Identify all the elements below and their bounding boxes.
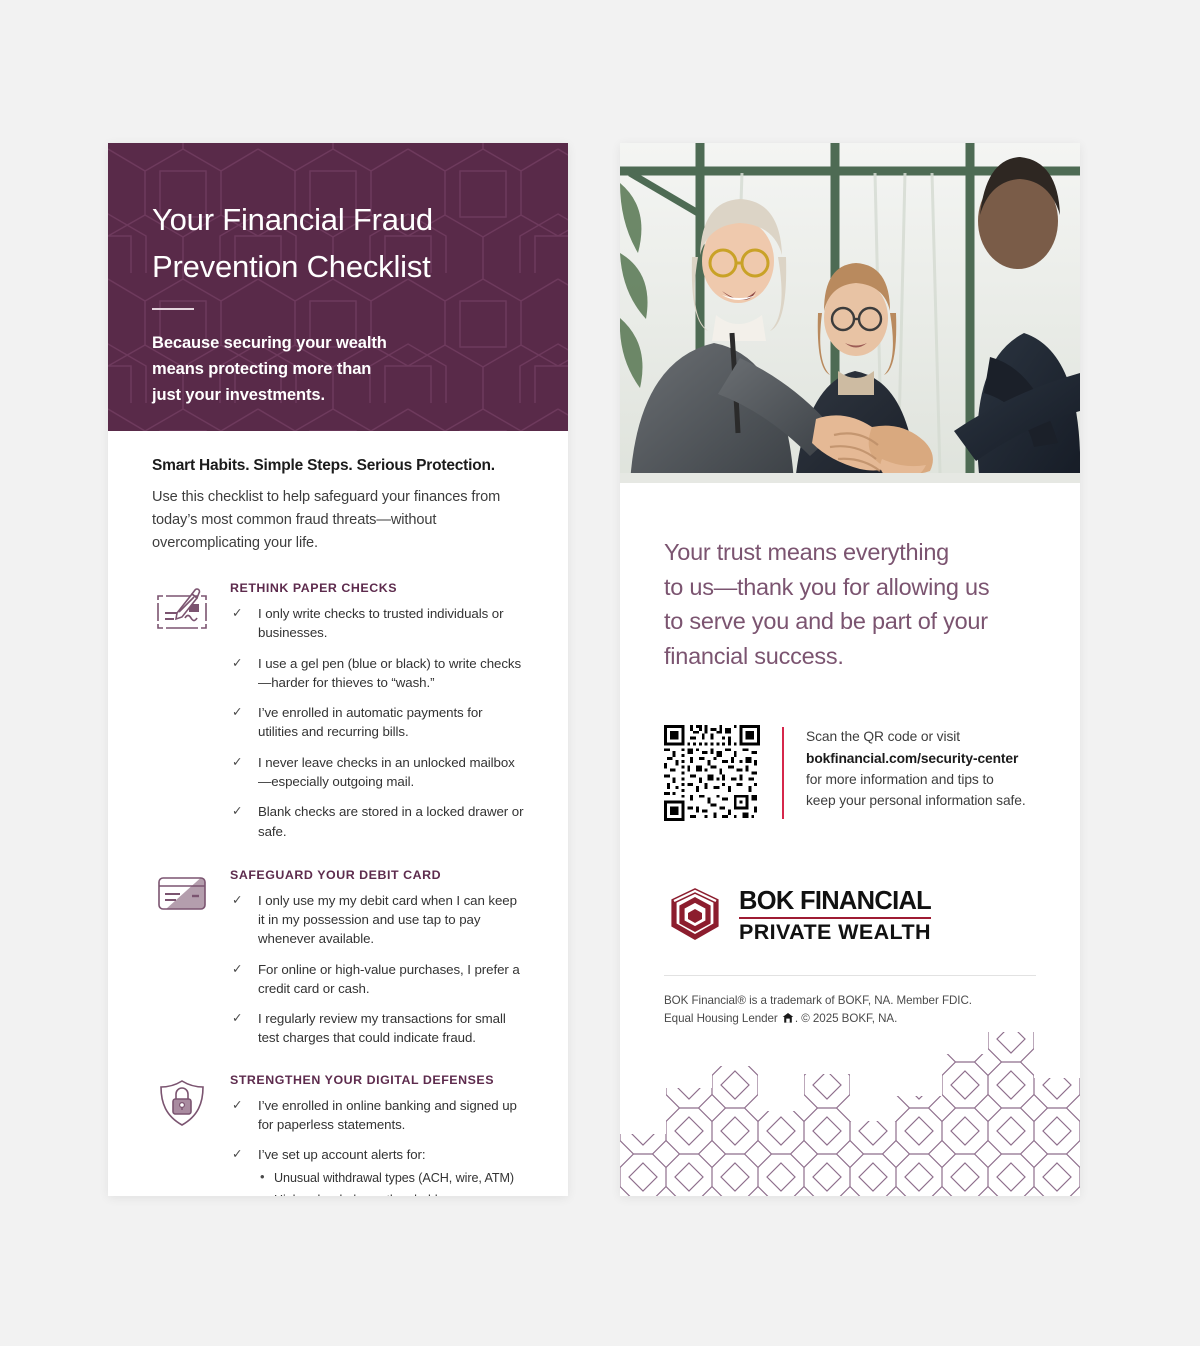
- checklist-item-label: I only use my my debit card when I can k…: [258, 893, 517, 947]
- checklist-item[interactable]: ✓I only use my my debit card when I can …: [230, 891, 524, 949]
- logo-line-private-wealth: PRIVATE WEALTH: [739, 922, 931, 944]
- security-center-url[interactable]: bokfinancial.com/security-center: [806, 751, 1018, 766]
- hero-title-line1: Your Financial Fraud: [152, 202, 433, 237]
- checklist-item[interactable]: ✓I only write checks to trusted individu…: [230, 604, 524, 643]
- checklist-item-label: I’ve enrolled in online banking and sign…: [258, 1098, 517, 1132]
- hero-subtitle-line2: means protecting more than: [152, 360, 371, 378]
- checklist-item-label: Blank checks are stored in a locked draw…: [258, 804, 523, 838]
- legal-disclaimer: BOK Financial® is a trademark of BOKF, N…: [664, 992, 1036, 1027]
- section-icon-wrap: [152, 1071, 230, 1196]
- checklist-subitem-label: Unusual withdrawal types (ACH, wire, ATM…: [274, 1171, 514, 1185]
- checklist-subitems: •Unusual withdrawal types (ACH, wire, AT…: [258, 1169, 524, 1196]
- section-heading: SAFEGUARD YOUR DEBIT CARD: [230, 868, 524, 882]
- checklist-item[interactable]: ✓ I’ve set up account alerts for: •Unusu…: [230, 1145, 524, 1196]
- logo-divider: [739, 917, 931, 919]
- qr-line4: keep your personal information safe.: [806, 793, 1026, 808]
- checklist-item[interactable]: ✓I’ve enrolled in automatic payments for…: [230, 703, 524, 742]
- hero-subtitle-line3: just your investments.: [152, 386, 325, 404]
- checklist-item-label: I’ve enrolled in automatic payments for …: [258, 705, 483, 739]
- equal-housing-lender-icon: [782, 1012, 794, 1024]
- checklist-item[interactable]: ✓I never leave checks in an unlocked mai…: [230, 753, 524, 792]
- page-canvas: Your Financial Fraud Prevention Checklis…: [0, 0, 1200, 1346]
- checklist-section: RETHINK PAPER CHECKS ✓I only write check…: [152, 579, 524, 852]
- qr-line3: for more information and tips to: [806, 772, 994, 787]
- qr-section: Scan the QR code or visit bokfinancial.c…: [664, 725, 1036, 821]
- footer-divider: [664, 975, 1036, 976]
- trust-line1: Your trust means everything: [664, 539, 949, 565]
- section-icon-wrap: [152, 579, 230, 852]
- checklist-item-label: For online or high-value purchases, I pr…: [258, 962, 520, 996]
- qr-divider: [782, 727, 784, 819]
- bullet-icon: •: [260, 1190, 264, 1196]
- check-icon: ✓: [232, 654, 242, 672]
- check-icon: ✓: [232, 604, 242, 622]
- photo-illustration: [620, 143, 1080, 483]
- checklist-section: SAFEGUARD YOUR DEBIT CARD ✓I only use my…: [152, 866, 524, 1059]
- checklist-body: Smart Habits. Simple Steps. Serious Prot…: [108, 431, 568, 1196]
- disclaimer-line2-before: Equal Housing Lender: [664, 1012, 778, 1025]
- section-heading: RETHINK PAPER CHECKS: [230, 581, 524, 595]
- logo-line-bok-financial: BOK FINANCIAL: [739, 889, 931, 915]
- checklist-item[interactable]: ✓I’ve enrolled in online banking and sig…: [230, 1096, 524, 1135]
- section-heading: STRENGTHEN YOUR DIGITAL DEFENSES: [230, 1073, 524, 1087]
- octagon-tessellation-pattern: [620, 1016, 1080, 1196]
- check-icon: ✓: [232, 802, 242, 820]
- trust-statement: Your trust means everything to us—thank …: [664, 535, 1036, 673]
- lede-headline: Smart Habits. Simple Steps. Serious Prot…: [152, 457, 524, 475]
- check-icon: ✓: [232, 1009, 242, 1027]
- checklist-item-label: I only write checks to trusted individua…: [258, 606, 503, 640]
- shield-lock-icon: [152, 1075, 212, 1133]
- hero-header: Your Financial Fraud Prevention Checklis…: [108, 143, 568, 431]
- checklist-items: ✓I’ve enrolled in online banking and sig…: [230, 1096, 524, 1196]
- checklist-items: ✓I only use my my debit card when I can …: [230, 891, 524, 1048]
- checklist-card-back: Your trust means everything to us—thank …: [620, 143, 1080, 1196]
- trust-line2: to us—thank you for allowing us: [664, 574, 989, 600]
- check-icon: ✓: [232, 960, 242, 978]
- back-body: Your trust means everything to us—thank …: [620, 483, 1080, 1027]
- page-title: Your Financial Fraud Prevention Checklis…: [152, 197, 524, 290]
- qr-instructions: Scan the QR code or visit bokfinancial.c…: [806, 725, 1036, 812]
- section-content: STRENGTHEN YOUR DIGITAL DEFENSES ✓I’ve e…: [230, 1071, 524, 1196]
- check-with-pen-icon: [152, 583, 212, 635]
- check-icon: ✓: [232, 1145, 242, 1163]
- debit-card-icon: [152, 870, 212, 916]
- qr-line1: Scan the QR code or visit: [806, 729, 960, 744]
- check-icon: ✓: [232, 1096, 242, 1114]
- hero-subtitle-line1: Because securing your wealth: [152, 334, 387, 352]
- checklist-item[interactable]: ✓Blank checks are stored in a locked dra…: [230, 802, 524, 841]
- checklist-subitem: •High or low balance thresholds: [258, 1191, 524, 1196]
- bok-octagon-logo-icon: [664, 887, 726, 945]
- disclaimer-line2-after: . © 2025 BOKF, NA.: [795, 1012, 897, 1025]
- logo-wordmark: BOK FINANCIAL PRIVATE WEALTH: [739, 889, 931, 944]
- trust-line4: financial success.: [664, 643, 844, 669]
- checklist-item-label: I never leave checks in an unlocked mail…: [258, 755, 515, 789]
- checklist-item[interactable]: ✓I regularly review my transactions for …: [230, 1009, 524, 1048]
- checklist-subitem-label: High or low balance thresholds: [274, 1193, 444, 1196]
- hero-divider: [152, 308, 194, 310]
- trust-line3: to serve you and be part of your: [664, 608, 988, 634]
- checklist-section: STRENGTHEN YOUR DIGITAL DEFENSES ✓I’ve e…: [152, 1071, 524, 1196]
- lede-paragraph: Use this checklist to help safeguard you…: [152, 486, 524, 555]
- bok-financial-logo: BOK FINANCIAL PRIVATE WEALTH: [664, 887, 1036, 945]
- checklist-card-front: Your Financial Fraud Prevention Checklis…: [108, 143, 568, 1196]
- checklist-items: ✓I only write checks to trusted individu…: [230, 604, 524, 841]
- hero-title-line2: Prevention Checklist: [152, 249, 431, 284]
- checklist-item[interactable]: ✓For online or high-value purchases, I p…: [230, 960, 524, 999]
- hero-subtitle: Because securing your wealth means prote…: [152, 330, 524, 408]
- checklist-item-label: I’ve set up account alerts for:: [258, 1147, 426, 1162]
- checklist-item-label: I use a gel pen (blue or black) to write…: [258, 656, 521, 690]
- business-handshake-photo: [620, 143, 1080, 483]
- check-icon: ✓: [232, 753, 242, 771]
- section-content: SAFEGUARD YOUR DEBIT CARD ✓I only use my…: [230, 866, 524, 1059]
- checklist-item-label: I regularly review my transactions for s…: [258, 1011, 506, 1045]
- section-icon-wrap: [152, 866, 230, 1059]
- section-content: RETHINK PAPER CHECKS ✓I only write check…: [230, 579, 524, 852]
- checklist-item[interactable]: ✓I use a gel pen (blue or black) to writ…: [230, 654, 524, 693]
- bullet-icon: •: [260, 1168, 264, 1187]
- check-icon: ✓: [232, 891, 242, 909]
- check-icon: ✓: [232, 703, 242, 721]
- checklist-subitem: •Unusual withdrawal types (ACH, wire, AT…: [258, 1169, 524, 1187]
- qr-code-icon[interactable]: [664, 725, 760, 821]
- disclaimer-line1: BOK Financial® is a trademark of BOKF, N…: [664, 994, 972, 1007]
